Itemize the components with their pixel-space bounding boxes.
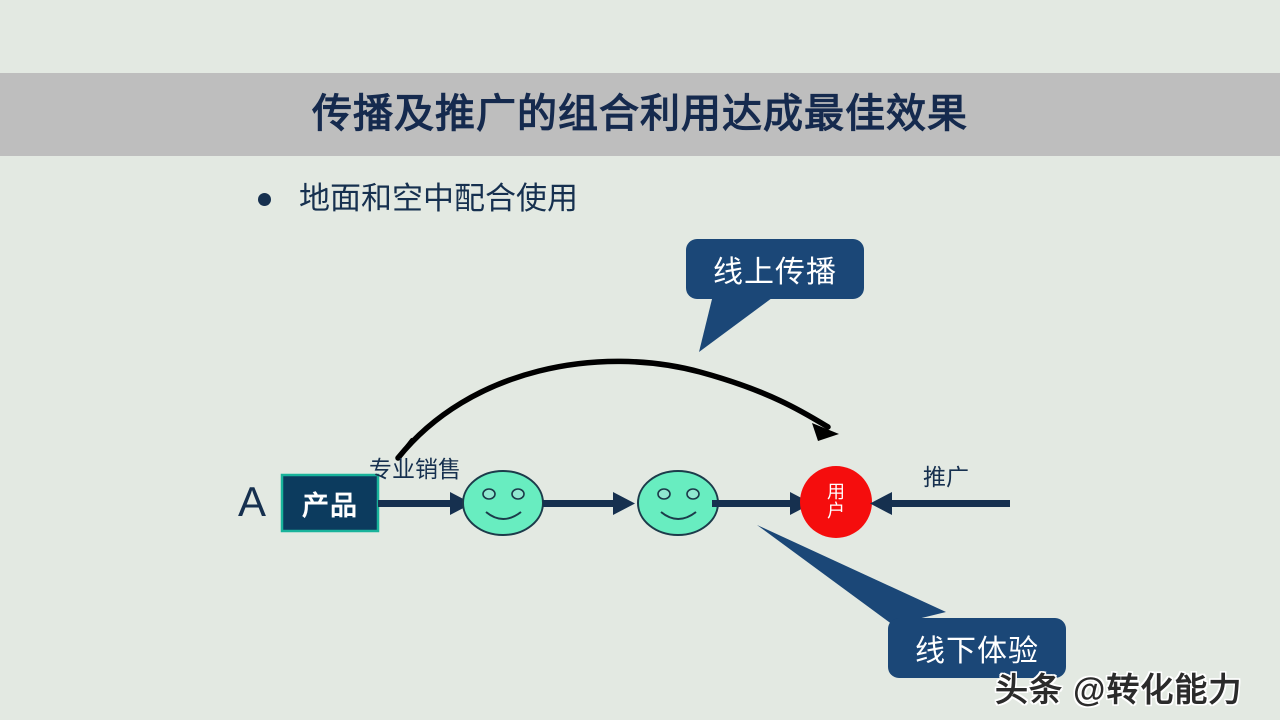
callout-online-communication: 线上传播 (686, 239, 864, 299)
face-1-eye-right (512, 489, 524, 499)
promotion-label: 推广 (923, 458, 969, 492)
connector-product-to-face1-shaft (378, 500, 450, 507)
slide-canvas: 传播及推广的组合利用达成最佳效果 地面和空中配合使用 (0, 0, 1280, 720)
face-1-head (463, 471, 543, 535)
user-node-label-line-2: 户 (827, 502, 845, 521)
connector-face1-to-face2-head (613, 492, 635, 515)
connector-promotion-head (870, 492, 892, 515)
diagram-start-label: A (238, 481, 266, 523)
user-node-label-line-1: 用 (827, 483, 845, 502)
product-box-label: 产品 (284, 481, 376, 525)
callout-online-tail (699, 295, 776, 352)
face-2-eye-right (687, 489, 699, 499)
callout-offline-tail (757, 525, 946, 625)
connector-face2-to-user-shaft (712, 500, 790, 507)
face-2-head (638, 471, 718, 535)
curved-arrow-path (398, 361, 828, 458)
connector-promotion-shaft (892, 500, 1010, 507)
connector-face1-to-face2-shaft (543, 500, 613, 507)
diagram-graphics (0, 0, 1280, 720)
professional-sales-label: 专业销售 (369, 450, 461, 484)
face-1-eye-left (483, 489, 495, 499)
face-2-eye-left (658, 489, 670, 499)
watermark: 头条 @转化能力 (995, 663, 1242, 711)
user-node-label: 用 户 (808, 472, 864, 532)
